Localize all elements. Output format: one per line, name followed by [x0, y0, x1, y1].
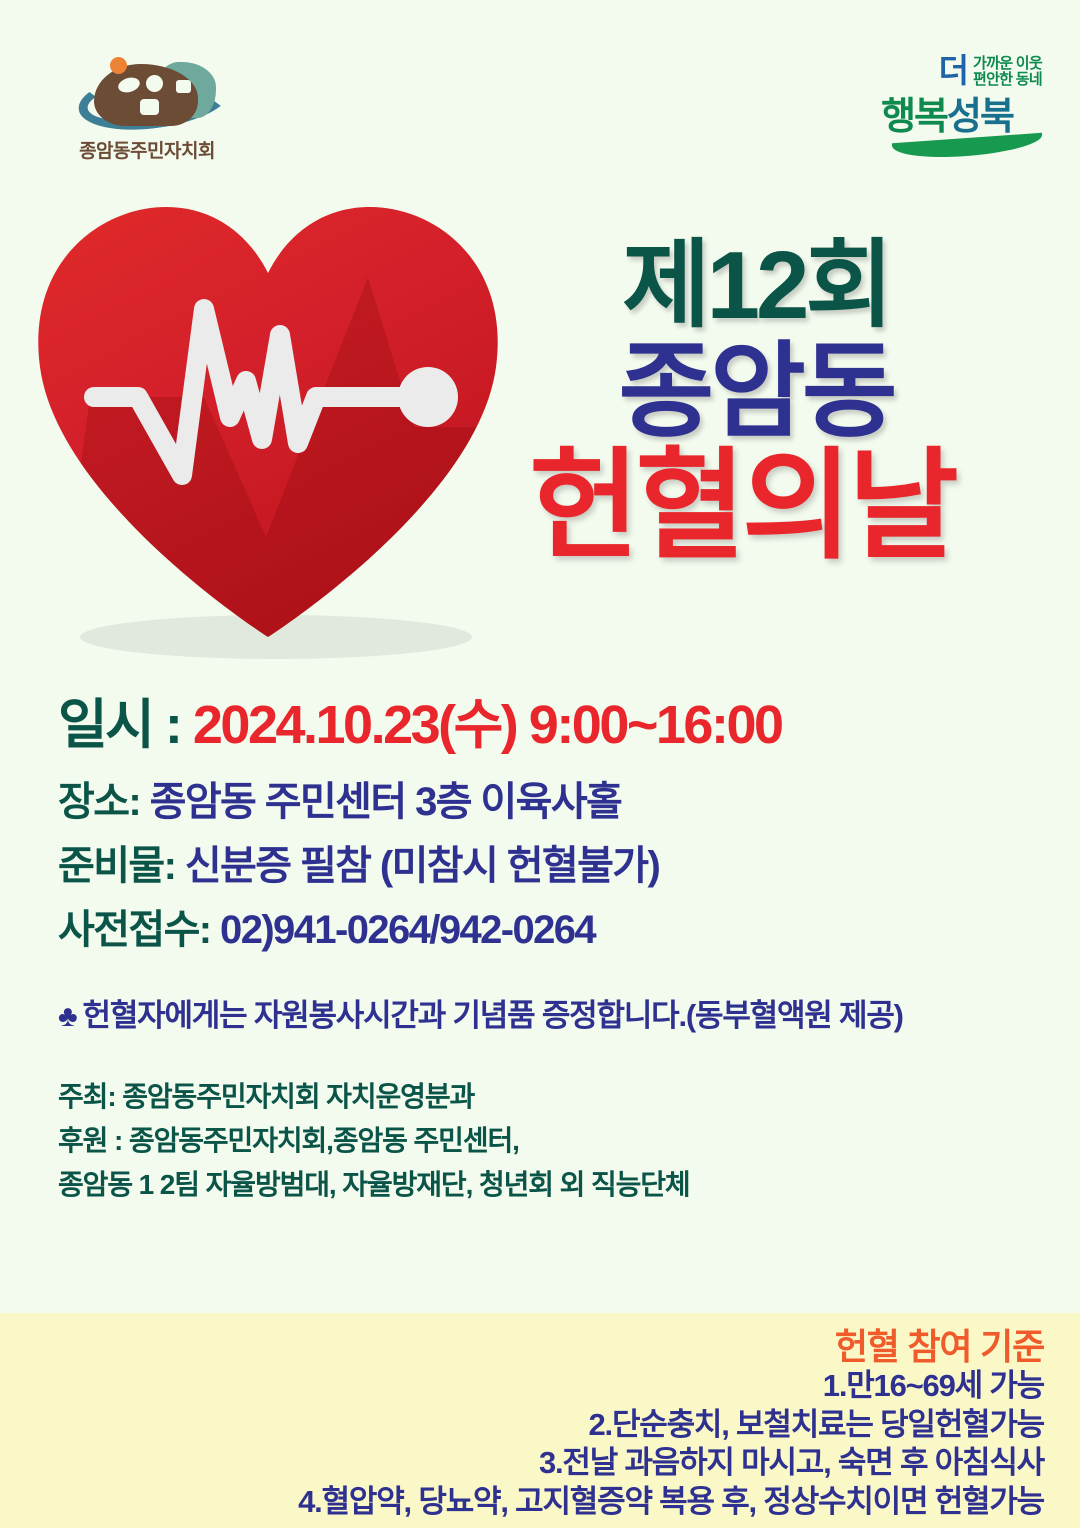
credit-sponsor-2: 종암동 1 2팀 자율방범대, 자율방재단, 청년회 외 직능단체 — [58, 1163, 1058, 1207]
donor-gift-note: ♣헌혈자에게는 자원봉사시간과 기념품 증정합니다.(동부혈액원 제공) — [58, 990, 1058, 1035]
poster-root: 종암동주민자치회 더 가까운 이웃 편안한 동네 행복성북 — [0, 0, 1080, 1528]
event-venue-row: 장소: 종암동 주민센터 3층 이육사홀 — [58, 782, 1058, 822]
event-date-value: 2024.10.23(수) 9:00~16:00 — [193, 695, 782, 755]
sun-dot-icon — [110, 57, 127, 74]
event-venue-value: 종암동 주민센터 3층 이육사홀 — [150, 780, 622, 824]
title-line-event: 헌혈의날 — [448, 446, 1036, 566]
poster-title: 제12회 종암동 헌혈의날 — [476, 238, 1036, 566]
event-date-label: 일시 : — [58, 695, 180, 755]
event-preregistration-row: 사전접수: 02)941-0264/942-0264 — [58, 910, 1058, 950]
logo-mark — [72, 52, 222, 134]
jongam-dong-residents-committee-logo: 종암동주민자치회 — [52, 52, 242, 167]
event-preregistration-label: 사전접수: — [58, 908, 211, 952]
credit-host: 주최: 종암동주민자치회 자치운영분과 — [58, 1075, 1058, 1119]
criteria-title: 헌혈 참여 기준 — [0, 1327, 1044, 1367]
criteria-item-4: 4.혈압약, 당뇨약, 고지혈증약 복용 후, 정상수치이면 헌혈가능 — [0, 1483, 1044, 1521]
heart-with-heartbeat-icon — [18, 185, 518, 665]
happy-seongbuk-logo: 더 가까운 이웃 편안한 동네 행복성북 — [852, 55, 1042, 165]
donor-gift-note-text: 헌혈자에게는 자원봉사시간과 기념품 증정합니다.(동부혈액원 제공) — [83, 998, 903, 1033]
logo-right-brand-part1: 행복 — [881, 96, 947, 138]
event-requirements-row: 준비물: 신분증 필참 (미참시 헌혈불가) — [58, 846, 1058, 886]
logo-right-brand-part2: 성북 — [947, 96, 1013, 138]
club-suit-icon: ♣ — [58, 1000, 77, 1033]
logo-glyph-b — [146, 75, 163, 92]
donation-criteria-band: 헌혈 참여 기준 1.만16~69세 가능 2.단순충치, 보철치료는 당일헌혈… — [0, 1313, 1080, 1528]
organizer-credits: 주최: 종암동주민자치회 자치운영분과 후원 : 종암동주민자치회,종암동 주민… — [58, 1075, 1058, 1208]
logo-right-top-row: 더 가까운 이웃 편안한 동네 — [852, 55, 1042, 97]
title-line-edition: 제12회 — [476, 238, 1036, 334]
credit-sponsor-1: 후원 : 종암동주민자치회,종암동 주민센터, — [58, 1119, 1058, 1163]
criteria-item-2: 2.단순충치, 보철치료는 당일헌혈가능 — [0, 1406, 1044, 1444]
event-venue-label: 장소: — [58, 780, 140, 824]
title-line-district: 종암동 — [476, 340, 1036, 444]
logo-right-tagline-line1: 가까운 이웃 — [973, 55, 1042, 72]
logo-right-tagline-line2: 편안한 동네 — [973, 71, 1042, 88]
event-requirements-value: 신분증 필참 (미참시 헌혈불가) — [185, 844, 659, 888]
event-preregistration-phone: 02)941-0264/942-0264 — [220, 908, 595, 952]
criteria-item-3: 3.전날 과음하지 마시고, 숙면 후 아침식사 — [0, 1444, 1044, 1482]
logo-right-brand: 행복성북 — [852, 98, 1042, 136]
logo-right-deo: 더 — [939, 55, 968, 86]
event-date-row: 일시 : 2024.10.23(수) 9:00~16:00 — [58, 694, 1058, 758]
logo-left-caption: 종암동주민자치회 — [52, 136, 242, 163]
logo-glyph-d — [176, 80, 191, 93]
logo-right-tagline: 가까운 이웃 편안한 동네 — [973, 55, 1042, 88]
event-info-block: 일시 : 2024.10.23(수) 9:00~16:00 장소: 종암동 주민… — [58, 694, 1058, 1207]
criteria-item-1: 1.만16~69세 가능 — [0, 1367, 1044, 1405]
logo-glyph-c — [140, 99, 159, 115]
event-requirements-label: 준비물: — [58, 844, 175, 888]
